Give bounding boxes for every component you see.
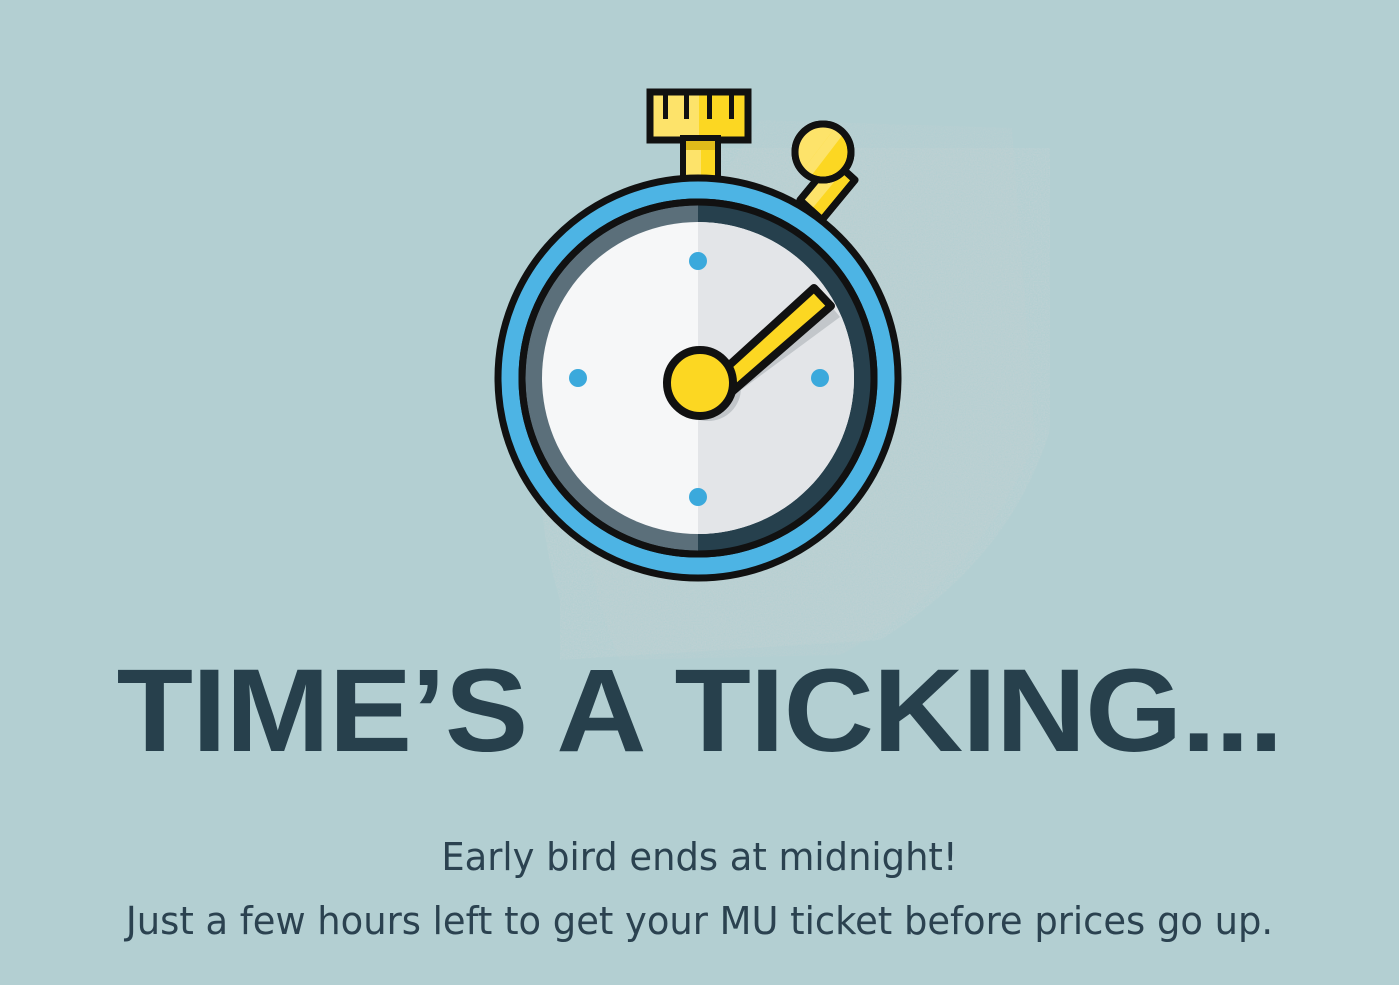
subtitle-line-2: Just a few hours left to get your MU tic… xyxy=(21,902,1378,940)
text-block: TIME’S A TICKING... Early bird ends at m… xyxy=(0,652,1399,940)
marker-6 xyxy=(689,488,707,506)
marker-9 xyxy=(569,369,587,387)
crown-bar xyxy=(650,92,748,140)
side-button[interactable] xyxy=(795,124,851,180)
marker-12 xyxy=(689,252,707,270)
stopwatch-illustration xyxy=(0,0,1399,660)
hand-hub xyxy=(667,350,733,416)
poster-canvas: TIME’S A TICKING... Early bird ends at m… xyxy=(0,0,1399,985)
marker-3 xyxy=(811,369,829,387)
page-title: TIME’S A TICKING... xyxy=(0,652,1399,770)
subtitle-line-1: Early bird ends at midnight! xyxy=(21,838,1378,876)
